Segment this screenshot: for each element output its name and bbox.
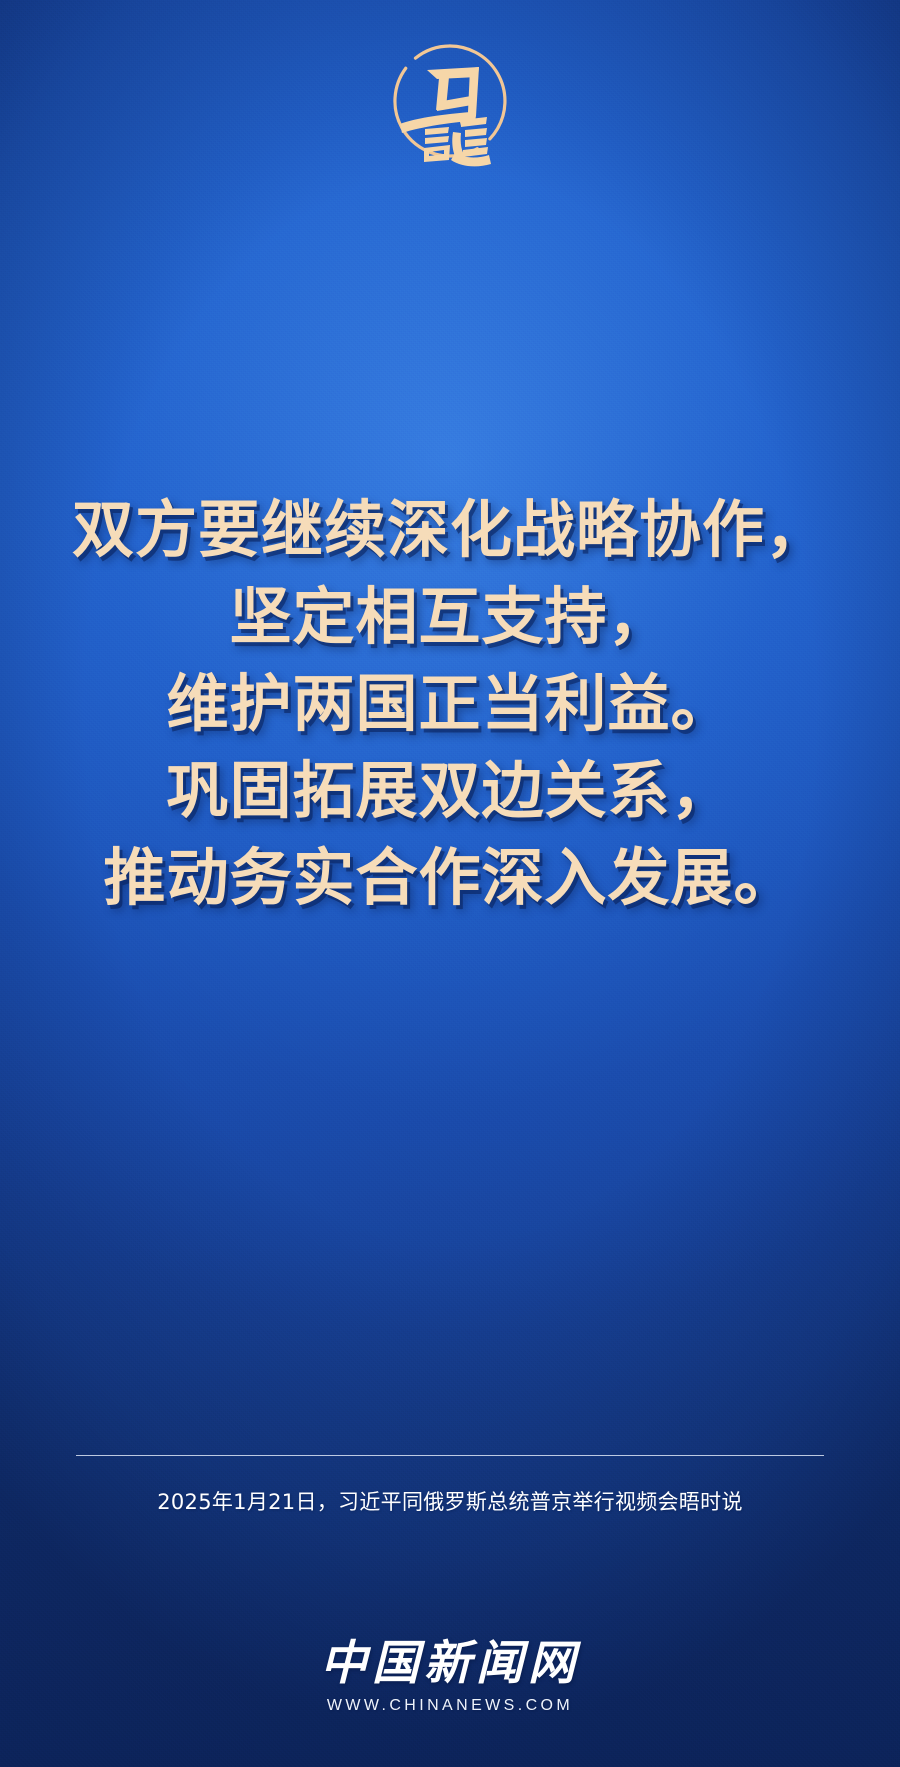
poster-canvas: 双方要继续深化战略协作， 坚定相互支持， 维护两国正当利益。 巩固拓展双边关系，…	[0, 0, 900, 1767]
seal-char-yan	[423, 115, 451, 162]
site-footer: 中国新闻网 WWW.CHINANEWS.COM	[0, 1636, 900, 1716]
quote-line-3: 维护两国正当利益。	[0, 660, 900, 747]
quote-line-2: 坚定相互支持，	[0, 573, 900, 660]
caption-divider	[76, 1455, 824, 1456]
quote-line-5: 推动务实合作深入发展。	[0, 834, 900, 921]
quote-block: 双方要继续深化战略协作， 坚定相互支持， 维护两国正当利益。 巩固拓展双边关系，…	[0, 486, 900, 921]
chinanews-wordmark: 中国新闻网	[0, 1636, 900, 1692]
xi-yan-dao-seal-logo	[375, 32, 525, 172]
seal-char-dao	[451, 117, 491, 166]
quote-line-1: 双方要继续深化战略协作，	[0, 486, 900, 573]
source-caption: 2025年1月21日，习近平同俄罗斯总统普京举行视频会晤时说	[0, 1487, 900, 1517]
chinanews-url: WWW.CHINANEWS.COM	[0, 1696, 900, 1716]
quote-line-4: 巩固拓展双边关系，	[0, 747, 900, 834]
